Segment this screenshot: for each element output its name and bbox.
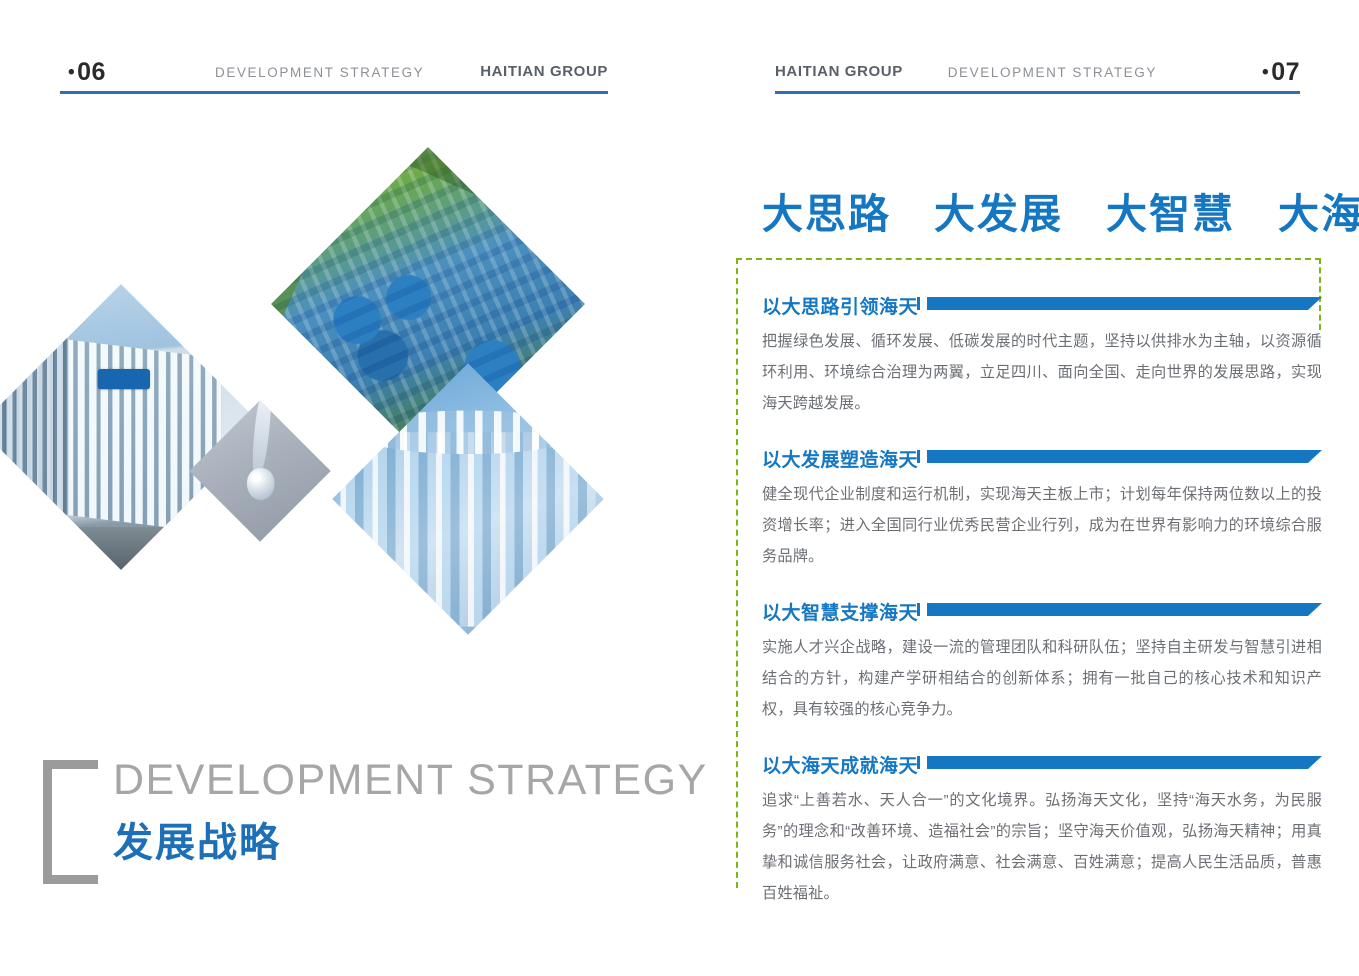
right-page-number: •07 [1262, 58, 1300, 87]
section-arrow-bar [927, 297, 1322, 310]
section-body: 实施人才兴企战略，建设一流的管理团队和科研队伍；坚持自主研发与智慧引进相结合的方… [762, 632, 1322, 725]
section-tick-marker [917, 450, 920, 463]
bracket-decoration-icon [43, 760, 98, 884]
dashed-border-left [736, 258, 738, 888]
page-bullet-icon: • [68, 62, 75, 83]
left-page-header: •06 DEVELOPMENT STRATEGY HAITIAN GROUP [60, 60, 608, 100]
section-title: 以大智慧支撑海天 [762, 598, 918, 625]
page-bullet-icon: • [1262, 62, 1269, 83]
section-arrow-bar [927, 603, 1322, 616]
section-tick-marker [917, 603, 920, 616]
building-photo-surface [0, 284, 264, 570]
right-page-content: 大思路 大发展 大智慧 大海天 以大思路引领海天 把握绿色发展、循环发展、低碳发… [736, 180, 1321, 900]
section-header: 以大智慧支撑海天 [762, 598, 1322, 624]
right-header-brand: HAITIAN GROUP [775, 63, 903, 80]
left-page-number-value: 06 [77, 58, 106, 86]
left-page-number: •06 [68, 58, 106, 87]
building-ground [0, 527, 264, 570]
section-header: 以大发展塑造海天 [762, 445, 1322, 471]
section-title: 以大海天成就海天 [762, 751, 918, 778]
brochure-spread: •06 DEVELOPMENT STRATEGY HAITIAN GROUP H… [0, 0, 1359, 976]
section-body: 追求“上善若水、天人合一”的文化境界。弘扬海天文化，坚持“海天水务，为民服务”的… [762, 785, 1322, 909]
right-page-number-value: 07 [1271, 58, 1300, 86]
section-title: 以大思路引领海天 [762, 292, 918, 319]
right-header-row: HAITIAN GROUP DEVELOPMENT STRATEGY •07 [775, 60, 1300, 88]
slogan-heading: 大思路 大发展 大智慧 大海天 [762, 180, 1359, 240]
strategy-section: 以大海天成就海天 追求“上善若水、天人合一”的文化境界。弘扬海天文化，坚持“海天… [762, 751, 1322, 909]
dashed-border-top [736, 258, 1321, 260]
left-header-row: •06 DEVELOPMENT STRATEGY HAITIAN GROUP [60, 60, 608, 88]
page-title-english: DEVELOPMENT STRATEGY [113, 756, 708, 805]
building-logo-sign-icon [98, 368, 151, 388]
left-header-section-label: DEVELOPMENT STRATEGY [215, 65, 424, 80]
section-title: 以大发展塑造海天 [762, 445, 918, 472]
section-body: 把握绿色发展、循环发展、低碳发展的时代主题，坚持以供排水为主轴，以资源循环利用、… [762, 326, 1322, 419]
right-header-section-label: DEVELOPMENT STRATEGY [948, 65, 1157, 80]
right-page-header: HAITIAN GROUP DEVELOPMENT STRATEGY •07 [775, 60, 1300, 100]
section-header: 以大思路引领海天 [762, 292, 1322, 318]
left-header-brand: HAITIAN GROUP [480, 63, 608, 80]
section-arrow-bar [927, 450, 1322, 463]
strategy-sections: 以大思路引领海天 把握绿色发展、循环发展、低碳发展的时代主题，坚持以供排水为主轴… [762, 292, 1322, 935]
strategy-section: 以大智慧支撑海天 实施人才兴企战略，建设一流的管理团队和科研队伍；坚持自主研发与… [762, 598, 1322, 725]
section-header: 以大海天成就海天 [762, 751, 1322, 777]
section-tick-marker [917, 297, 920, 310]
strategy-section: 以大思路引领海天 把握绿色发展、循环发展、低碳发展的时代主题，坚持以供排水为主轴… [762, 292, 1322, 419]
section-arrow-bar [927, 756, 1322, 769]
strategy-section: 以大发展塑造海天 健全现代企业制度和运行机制，实现海天主板上市；计划每年保持两位… [762, 445, 1322, 572]
section-tick-marker [917, 756, 920, 769]
left-header-rule [60, 91, 608, 94]
page-title-chinese: 发展战略 [113, 810, 281, 868]
building-photo [0, 284, 264, 570]
image-office-building-exterior [0, 284, 264, 570]
diamond-image-collage [0, 150, 620, 650]
right-header-rule [775, 91, 1300, 94]
page-title: DEVELOPMENT STRATEGY 发展战略 [43, 760, 603, 870]
section-body: 健全现代企业制度和运行机制，实现海天主板上市；计划每年保持两位数以上的投资增长率… [762, 479, 1322, 572]
